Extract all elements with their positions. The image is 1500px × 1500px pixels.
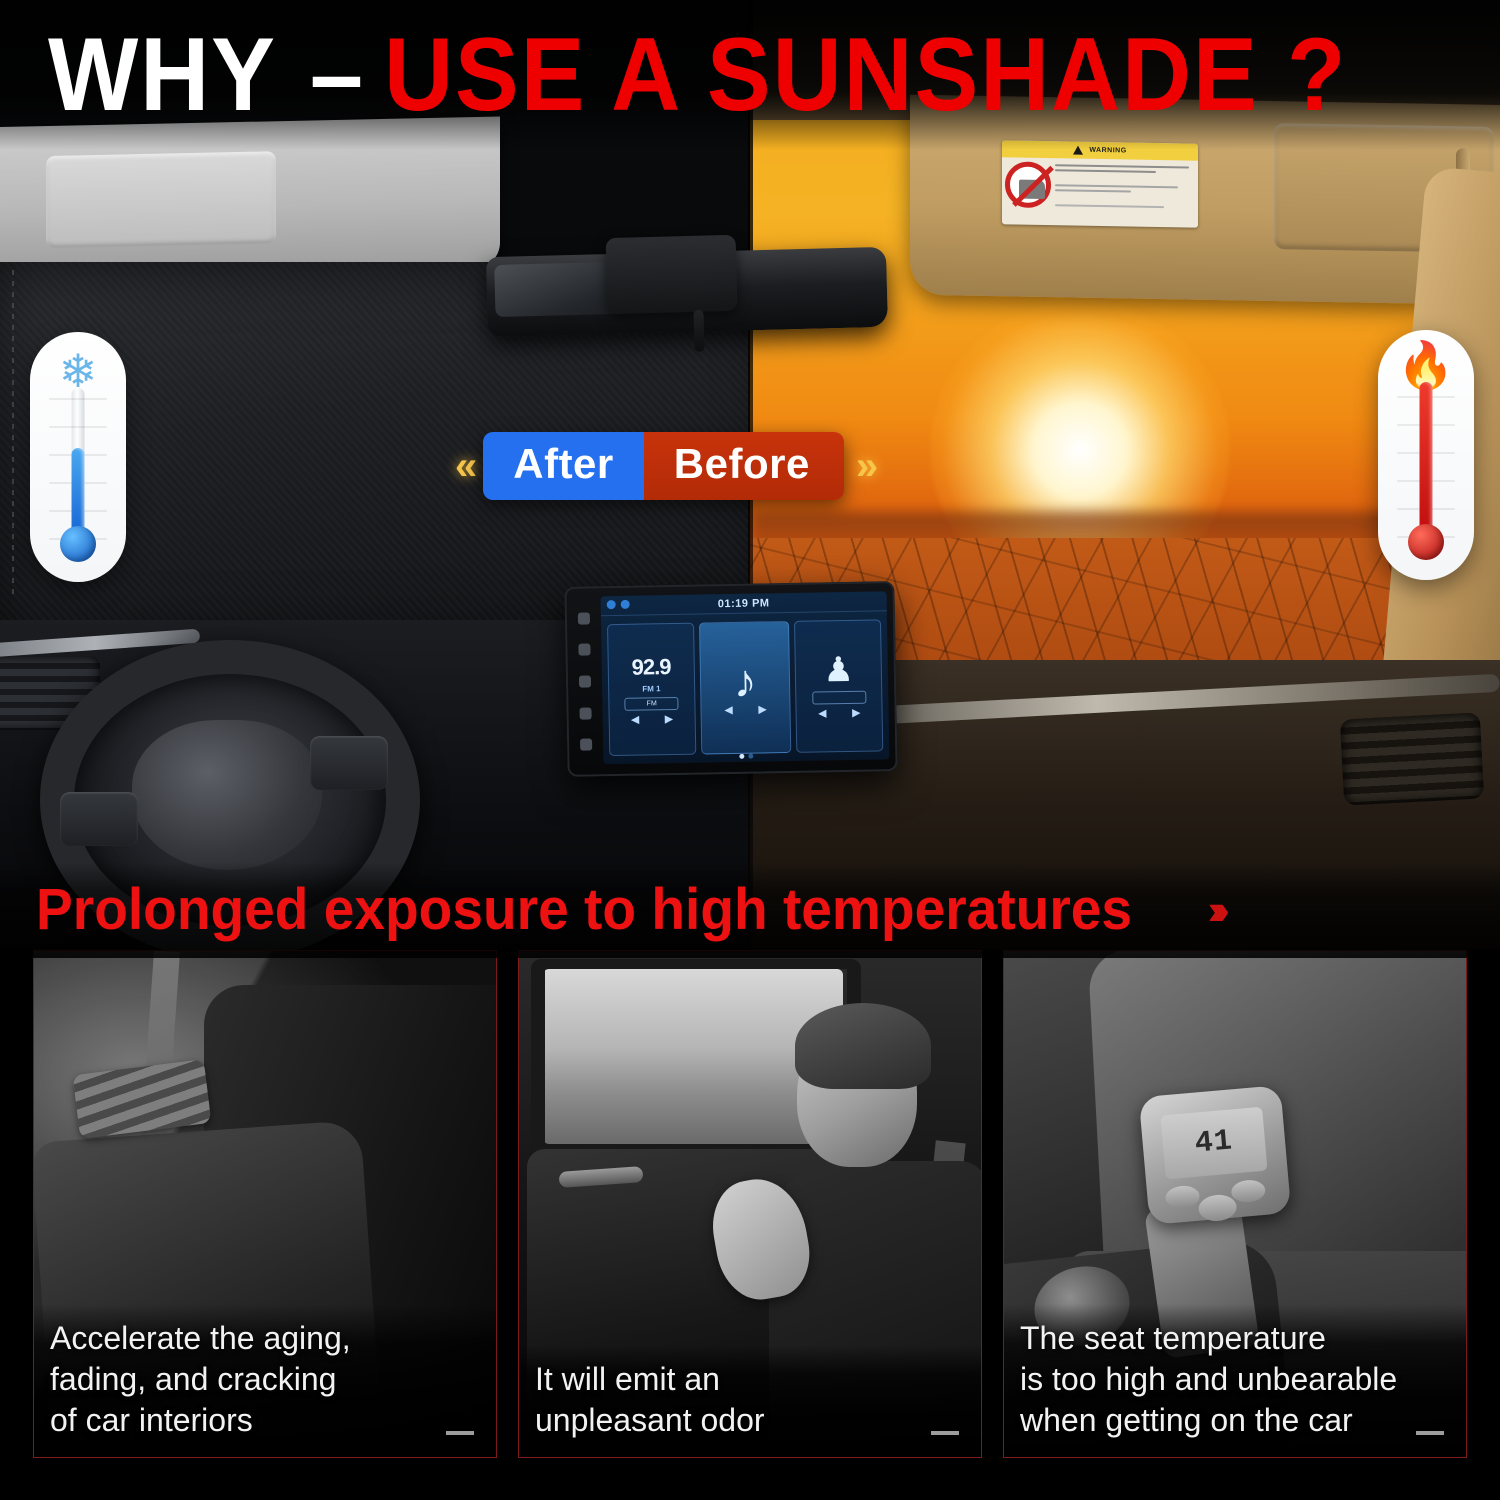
radio-next-icon: ▶ xyxy=(665,714,673,725)
screen-tiles: 92.9 FM 1 FM ◀ ▶ ♪ ◀ ▶ xyxy=(601,611,890,764)
caption-line: fading, and cracking xyxy=(50,1359,480,1400)
panel-caption: The seat temperature is too high and unb… xyxy=(1004,1304,1466,1457)
radio-band-label: FM 1 xyxy=(642,684,660,693)
caption-line: when getting on the car xyxy=(1020,1400,1450,1441)
consequence-panels: Accelerate the aging, fading, and cracki… xyxy=(0,950,1500,1500)
seat-temperature-panel: 41 The seat temperature is too high and … xyxy=(1003,950,1467,1458)
title-red-part: USE A SUNSHADE ? xyxy=(384,23,1347,127)
steering-airbag-hub xyxy=(132,720,322,870)
dashcam xyxy=(606,235,738,314)
mirror-stalk xyxy=(693,310,704,352)
steering-button-pad-right xyxy=(310,736,388,790)
hot-thermometer-bulb xyxy=(1408,524,1444,560)
thermometer-lcd: 41 xyxy=(1160,1107,1267,1180)
visor-grip xyxy=(64,169,80,233)
cold-thermometer-fill xyxy=(72,448,85,534)
unpleasant-odor-panel: It will emit an unpleasant odor xyxy=(518,950,982,1458)
before-after-badge: « After Before » xyxy=(455,432,872,500)
music-note-icon: ♪ xyxy=(733,660,757,700)
hero-comparison: WARNING xyxy=(0,0,1500,950)
signal-icon xyxy=(621,600,630,609)
radio-tile[interactable]: 92.9 FM 1 FM ◀ ▶ xyxy=(607,623,696,756)
warning-label-fineprint xyxy=(1055,162,1195,211)
chevron-left-icon: « xyxy=(455,446,471,486)
apps-key[interactable] xyxy=(579,707,591,719)
caption-line: Accelerate the aging, xyxy=(50,1318,480,1359)
person-hair xyxy=(795,1003,931,1089)
interior-aging-panel: Accelerate the aging, fading, and cracki… xyxy=(33,950,497,1458)
product-infographic: WARNING xyxy=(0,0,1500,1500)
infrared-thermometer: 41 xyxy=(1139,1085,1292,1225)
radio-nav-row[interactable]: ◀ ▶ xyxy=(631,714,673,726)
person-icon: ♟ xyxy=(823,653,854,688)
bluetooth-icon xyxy=(607,600,616,609)
thermometer-reading: 41 xyxy=(1194,1124,1235,1161)
profile-prev-icon: ◀ xyxy=(819,708,827,719)
power-key[interactable] xyxy=(578,612,590,624)
caption-line: is too high and unbearable xyxy=(1020,1359,1450,1400)
sunshade-stitching xyxy=(12,270,14,600)
hot-thermometer-fill xyxy=(1420,382,1433,532)
menu-key[interactable] xyxy=(580,739,592,751)
profile-nav-row[interactable]: ◀ ▶ xyxy=(819,708,861,720)
caption-line: of car interiors xyxy=(50,1400,480,1441)
thermometer-button-right[interactable] xyxy=(1230,1179,1266,1204)
caption-underscore xyxy=(446,1431,474,1435)
page-title: WHY – USE A SUNSHADE ? xyxy=(0,0,1500,150)
caption-underscore xyxy=(1416,1431,1444,1435)
home-key[interactable] xyxy=(578,644,590,656)
cold-thermometer: ❄ xyxy=(30,332,126,582)
thermometer-button-left[interactable] xyxy=(1165,1185,1201,1210)
chevron-right-icon: » xyxy=(856,446,872,486)
steering-button-pad-left xyxy=(60,792,138,846)
media-tile[interactable]: ♪ ◀ ▶ xyxy=(699,621,792,755)
dashboard-vent xyxy=(73,1059,212,1139)
profile-chip[interactable] xyxy=(812,691,866,705)
visor-warning-label: WARNING xyxy=(1002,140,1198,227)
panel-caption: It will emit an unpleasant odor xyxy=(519,1345,981,1457)
clock-label: 01:19 PM xyxy=(718,597,770,610)
media-transport-row[interactable]: ◀ ▶ xyxy=(725,704,767,716)
infotainment-screen[interactable]: 01:19 PM 92.9 FM 1 FM ◀ ▶ ♪ xyxy=(601,591,890,764)
media-next-icon: ▶ xyxy=(758,704,766,715)
warning-label-body xyxy=(1002,157,1198,215)
caption-underscore xyxy=(931,1431,959,1435)
profile-tile[interactable]: ♟ ◀ ▶ xyxy=(794,619,883,752)
title-dash: – xyxy=(297,23,378,127)
caption-line: unpleasant odor xyxy=(535,1400,965,1441)
radio-prev-icon: ◀ xyxy=(631,714,639,725)
title-white-part: WHY xyxy=(48,23,277,127)
after-label: After xyxy=(483,432,644,500)
media-prev-icon: ◀ xyxy=(725,704,733,715)
before-label: Before xyxy=(644,432,844,500)
head-unit-hard-keys[interactable] xyxy=(571,602,600,760)
subheading-text: Prolonged exposure to high temperatures xyxy=(36,879,1132,941)
before-air-vent xyxy=(1340,712,1484,805)
no-child-seat-icon xyxy=(1005,161,1051,208)
child-seat-glyph xyxy=(1019,180,1045,199)
infotainment-head-unit[interactable]: 01:19 PM 92.9 FM 1 FM ◀ ▶ ♪ xyxy=(564,581,897,777)
panel-caption: Accelerate the aging, fading, and cracki… xyxy=(34,1304,496,1457)
radio-frequency-value: 92.9 xyxy=(631,654,670,681)
caption-line: It will emit an xyxy=(535,1359,965,1400)
page-indicator xyxy=(739,754,753,759)
volume-key[interactable] xyxy=(579,675,591,687)
profile-next-icon: ▶ xyxy=(852,708,860,719)
rearview-mirror xyxy=(486,247,888,337)
subheading: Prolonged exposure to high temperatures … xyxy=(0,862,1500,958)
cold-thermometer-bulb xyxy=(60,526,96,562)
hot-thermometer: 🔥 xyxy=(1378,330,1474,580)
status-icons xyxy=(607,600,630,609)
radio-preset-chip[interactable]: FM xyxy=(625,696,679,710)
chevrons-right-icon: ››› xyxy=(1208,889,1220,931)
badge-pill: After Before xyxy=(483,432,844,500)
caption-line: The seat temperature xyxy=(1020,1318,1450,1359)
